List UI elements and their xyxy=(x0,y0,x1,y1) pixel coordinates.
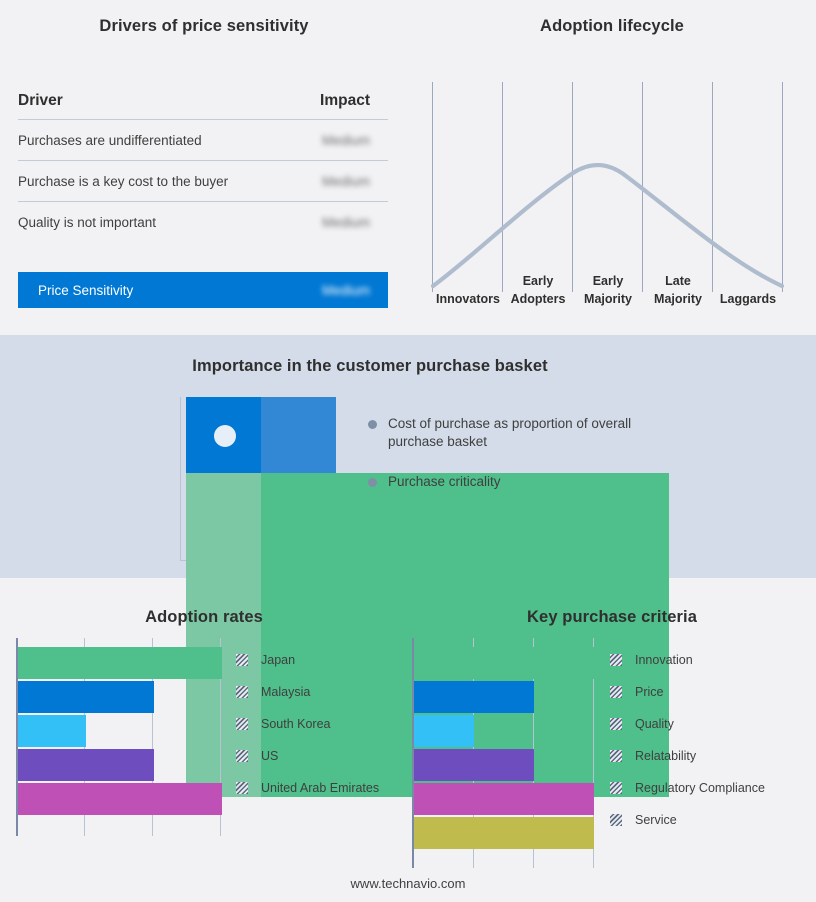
legend-swatch-icon xyxy=(236,686,248,698)
bar-price xyxy=(414,681,534,713)
footer-url: www.technavio.com xyxy=(0,876,816,891)
list-item: US xyxy=(236,740,379,772)
stage-label-laggards: Laggards xyxy=(713,292,783,306)
legend-label: Japan xyxy=(261,653,295,667)
legend-swatch-icon xyxy=(610,782,622,794)
basket-panel: Importance in the customer purchase bask… xyxy=(0,335,816,578)
legend-swatch-icon xyxy=(610,814,622,826)
legend-label: Relatability xyxy=(635,749,696,763)
bar-innovation xyxy=(414,647,594,679)
stage-label-late-majority-line1: Late xyxy=(643,274,713,288)
infographic-page: Drivers of price sensitivity Driver Impa… xyxy=(0,0,816,902)
driver-label: Purchases are undifferentiated xyxy=(18,133,202,148)
key-purchase-criteria-panel: Key purchase criteria Innovation Price Q… xyxy=(408,578,816,902)
stage-label-late-majority-line2: Majority xyxy=(643,292,713,306)
stage-label-early-adopters-line2: Adopters xyxy=(503,292,573,306)
legend-swatch-icon xyxy=(610,654,622,666)
bar-us xyxy=(18,749,154,781)
bar-south-korea xyxy=(18,715,86,747)
adoption-bell-curve xyxy=(433,165,782,286)
list-item: United Arab Emirates xyxy=(236,772,379,804)
bullet-dot-icon xyxy=(368,420,377,429)
drivers-table-header: Driver Impact xyxy=(18,92,388,120)
table-row: Purchases are undifferentiated Medium xyxy=(18,120,388,161)
adoption-rates-panel: Adoption rates Japan Malaysia South Kore… xyxy=(0,578,408,902)
highlight-impact-value: Medium xyxy=(322,283,388,298)
legend-label: Price xyxy=(635,685,663,699)
column-header-impact: Impact xyxy=(320,92,388,110)
quadrant-y-axis xyxy=(180,397,181,561)
lifecycle-panel: Adoption lifecycle Innovators Early xyxy=(408,0,816,335)
legend-label: Quality xyxy=(635,717,674,731)
list-item: Malaysia xyxy=(236,676,379,708)
quadrant-grid xyxy=(186,397,336,549)
lifecycle-panel-title: Adoption lifecycle xyxy=(408,17,816,36)
drivers-panel-title: Drivers of price sensitivity xyxy=(0,17,408,36)
key-purchase-criteria-legend: Innovation Price Quality Relatability Re… xyxy=(610,644,765,836)
legend-swatch-icon xyxy=(236,782,248,794)
legend-swatch-icon xyxy=(236,718,248,730)
quadrant-chart xyxy=(180,397,336,549)
basket-legend-label: Cost of purchase as proportion of overal… xyxy=(388,415,650,451)
legend-label: Innovation xyxy=(635,653,693,667)
table-row: Quality is not important Medium xyxy=(18,202,388,242)
highlight-driver-label: Price Sensitivity xyxy=(18,283,133,298)
stage-dividers xyxy=(433,82,783,292)
bar-regulatory-compliance xyxy=(414,783,594,815)
legend-swatch-icon xyxy=(236,654,248,666)
bar-quality xyxy=(414,715,474,747)
list-item: South Korea xyxy=(236,708,379,740)
basket-panel-title: Importance in the customer purchase bask… xyxy=(0,357,740,376)
bar-service xyxy=(414,817,594,849)
basket-legend: Cost of purchase as proportion of overal… xyxy=(368,415,668,513)
legend-swatch-icon xyxy=(610,750,622,762)
list-item: Regulatory Compliance xyxy=(610,772,765,804)
bar-japan xyxy=(18,647,222,679)
stage-label-early-majority-line1: Early xyxy=(573,274,643,288)
bar-malaysia xyxy=(18,681,154,713)
list-item: Cost of purchase as proportion of overal… xyxy=(368,415,668,451)
stage-label-early-majority-line2: Majority xyxy=(573,292,643,306)
list-item: Relatability xyxy=(610,740,765,772)
lifecycle-chart: Innovators Early Adopters Early Majority… xyxy=(430,80,798,310)
adoption-rates-legend: Japan Malaysia South Korea US United Ara… xyxy=(236,644,379,804)
key-purchase-criteria-chart xyxy=(412,638,602,870)
impact-value: Medium xyxy=(322,133,388,148)
key-purchase-criteria-title: Key purchase criteria xyxy=(408,608,816,627)
bar-relatability xyxy=(414,749,534,781)
adoption-rates-chart xyxy=(16,638,226,838)
drivers-table: Driver Impact Purchases are undifferenti… xyxy=(18,92,388,242)
driver-label: Quality is not important xyxy=(18,215,156,230)
table-row: Purchase is a key cost to the buyer Medi… xyxy=(18,161,388,202)
list-item: Purchase criticality xyxy=(368,473,668,491)
price-sensitivity-highlight-row: Price Sensitivity Medium xyxy=(18,272,388,308)
basket-legend-label: Purchase criticality xyxy=(388,473,501,491)
legend-label: South Korea xyxy=(261,717,331,731)
drivers-panel: Drivers of price sensitivity Driver Impa… xyxy=(0,0,408,335)
legend-label: Malaysia xyxy=(261,685,310,699)
legend-swatch-icon xyxy=(236,750,248,762)
stage-label-innovators: Innovators xyxy=(433,292,503,306)
legend-label: US xyxy=(261,749,278,763)
list-item: Quality xyxy=(610,708,765,740)
legend-label: Regulatory Compliance xyxy=(635,781,765,795)
list-item: Innovation xyxy=(610,644,765,676)
legend-swatch-icon xyxy=(610,718,622,730)
quadrant-top-right xyxy=(261,397,336,473)
driver-label: Purchase is a key cost to the buyer xyxy=(18,174,228,189)
list-item: Price xyxy=(610,676,765,708)
impact-value: Medium xyxy=(322,215,388,230)
quadrant-position-marker xyxy=(214,425,236,447)
legend-swatch-icon xyxy=(610,686,622,698)
impact-value: Medium xyxy=(322,174,388,189)
stage-label-early-adopters-line1: Early xyxy=(503,274,573,288)
bar-united-arab-emirates xyxy=(18,783,222,815)
list-item: Service xyxy=(610,804,765,836)
legend-label: United Arab Emirates xyxy=(261,781,379,795)
list-item: Japan xyxy=(236,644,379,676)
adoption-rates-title: Adoption rates xyxy=(0,608,408,627)
quadrant-top-left xyxy=(186,397,261,473)
column-header-driver: Driver xyxy=(18,92,63,110)
bullet-dot-icon xyxy=(368,478,377,487)
legend-label: Service xyxy=(635,813,677,827)
